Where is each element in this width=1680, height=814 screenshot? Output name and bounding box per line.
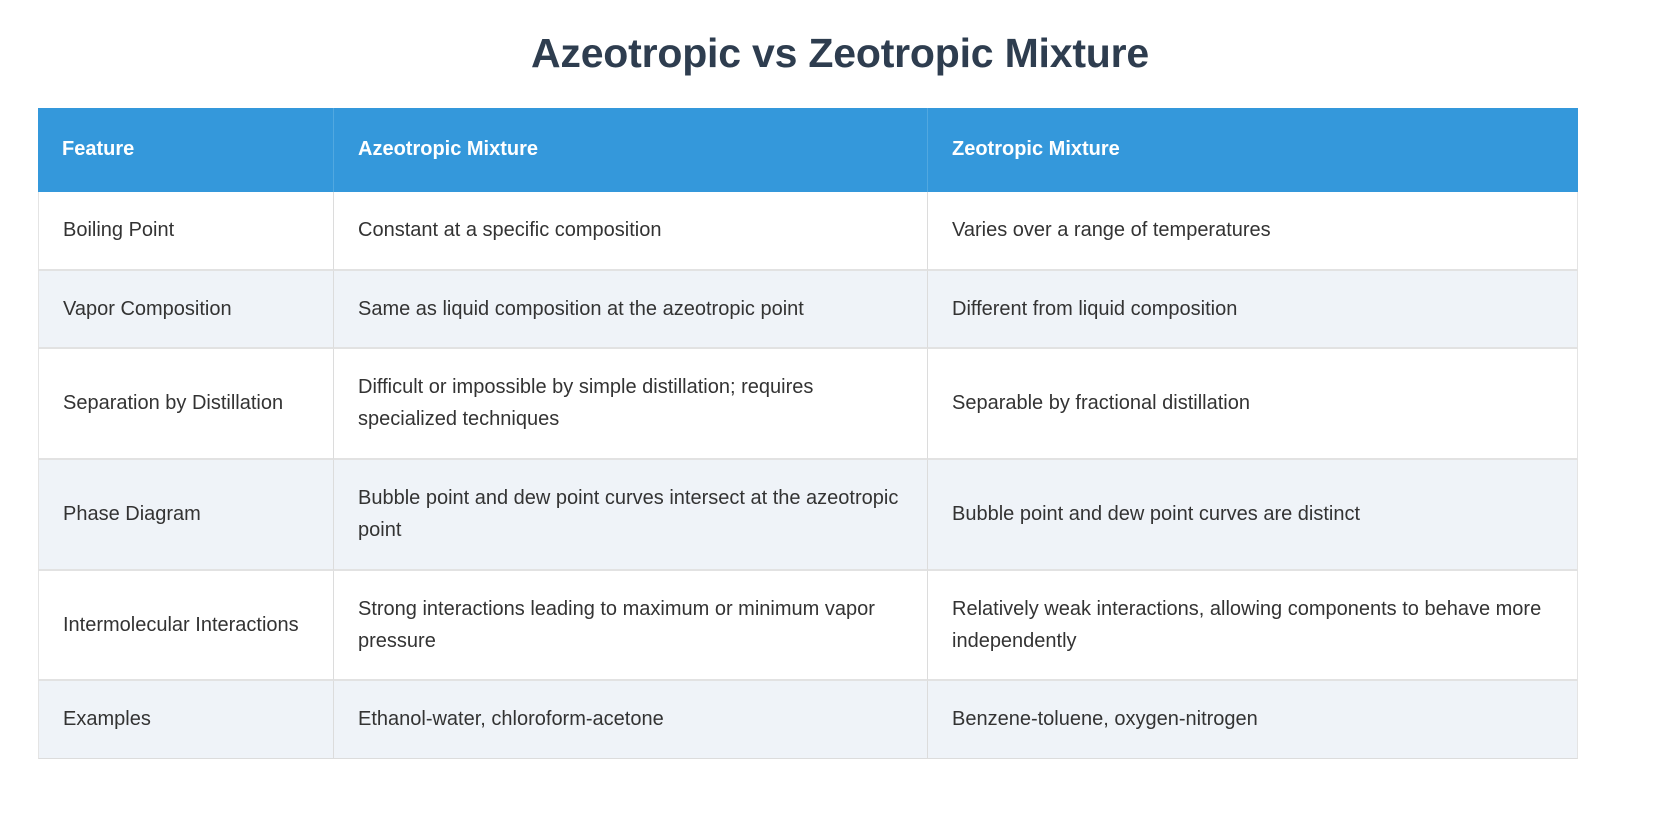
cell-zeotropic: Bubble point and dew point curves are di… xyxy=(928,460,1578,571)
column-header-zeotropic-mixture: Zeotropic Mixture xyxy=(928,108,1578,192)
page-root: Azeotropic vs Zeotropic Mixture Feature … xyxy=(0,0,1680,814)
table-row: Phase Diagram Bubble point and dew point… xyxy=(38,460,1578,571)
cell-azeotropic: Ethanol-water, chloroform-acetone xyxy=(334,681,928,758)
cell-azeotropic: Same as liquid composition at the azeotr… xyxy=(334,271,928,349)
cell-feature: Phase Diagram xyxy=(38,460,334,571)
table-row: Examples Ethanol-water, chloroform-aceto… xyxy=(38,681,1578,758)
table-row: Separation by Distillation Difficult or … xyxy=(38,349,1578,460)
cell-azeotropic: Constant at a specific composition xyxy=(334,192,928,270)
cell-feature: Separation by Distillation xyxy=(38,349,334,460)
cell-azeotropic: Difficult or impossible by simple distil… xyxy=(334,349,928,460)
cell-feature: Intermolecular Interactions xyxy=(38,571,334,682)
cell-zeotropic: Benzene-toluene, oxygen-nitrogen xyxy=(928,681,1578,758)
table-row: Vapor Composition Same as liquid composi… xyxy=(38,271,1578,349)
table-body: Boiling Point Constant at a specific com… xyxy=(38,192,1578,759)
table-header: Feature Azeotropic Mixture Zeotropic Mix… xyxy=(38,108,1578,192)
cell-feature: Vapor Composition xyxy=(38,271,334,349)
cell-zeotropic: Different from liquid composition xyxy=(928,271,1578,349)
comparison-table: Feature Azeotropic Mixture Zeotropic Mix… xyxy=(38,108,1578,759)
page-title: Azeotropic vs Zeotropic Mixture xyxy=(0,0,1680,78)
cell-zeotropic: Varies over a range of temperatures xyxy=(928,192,1578,270)
cell-feature: Boiling Point xyxy=(38,192,334,270)
table-row: Boiling Point Constant at a specific com… xyxy=(38,192,1578,270)
cell-azeotropic: Bubble point and dew point curves inters… xyxy=(334,460,928,571)
table-row: Intermolecular Interactions Strong inter… xyxy=(38,571,1578,682)
column-header-azeotropic-mixture: Azeotropic Mixture xyxy=(334,108,928,192)
column-header-feature: Feature xyxy=(38,108,334,192)
cell-azeotropic: Strong interactions leading to maximum o… xyxy=(334,571,928,682)
cell-zeotropic: Relatively weak interactions, allowing c… xyxy=(928,571,1578,682)
cell-zeotropic: Separable by fractional distillation xyxy=(928,349,1578,460)
table-header-row: Feature Azeotropic Mixture Zeotropic Mix… xyxy=(38,108,1578,192)
cell-feature: Examples xyxy=(38,681,334,758)
comparison-table-wrapper: Feature Azeotropic Mixture Zeotropic Mix… xyxy=(38,108,1578,759)
